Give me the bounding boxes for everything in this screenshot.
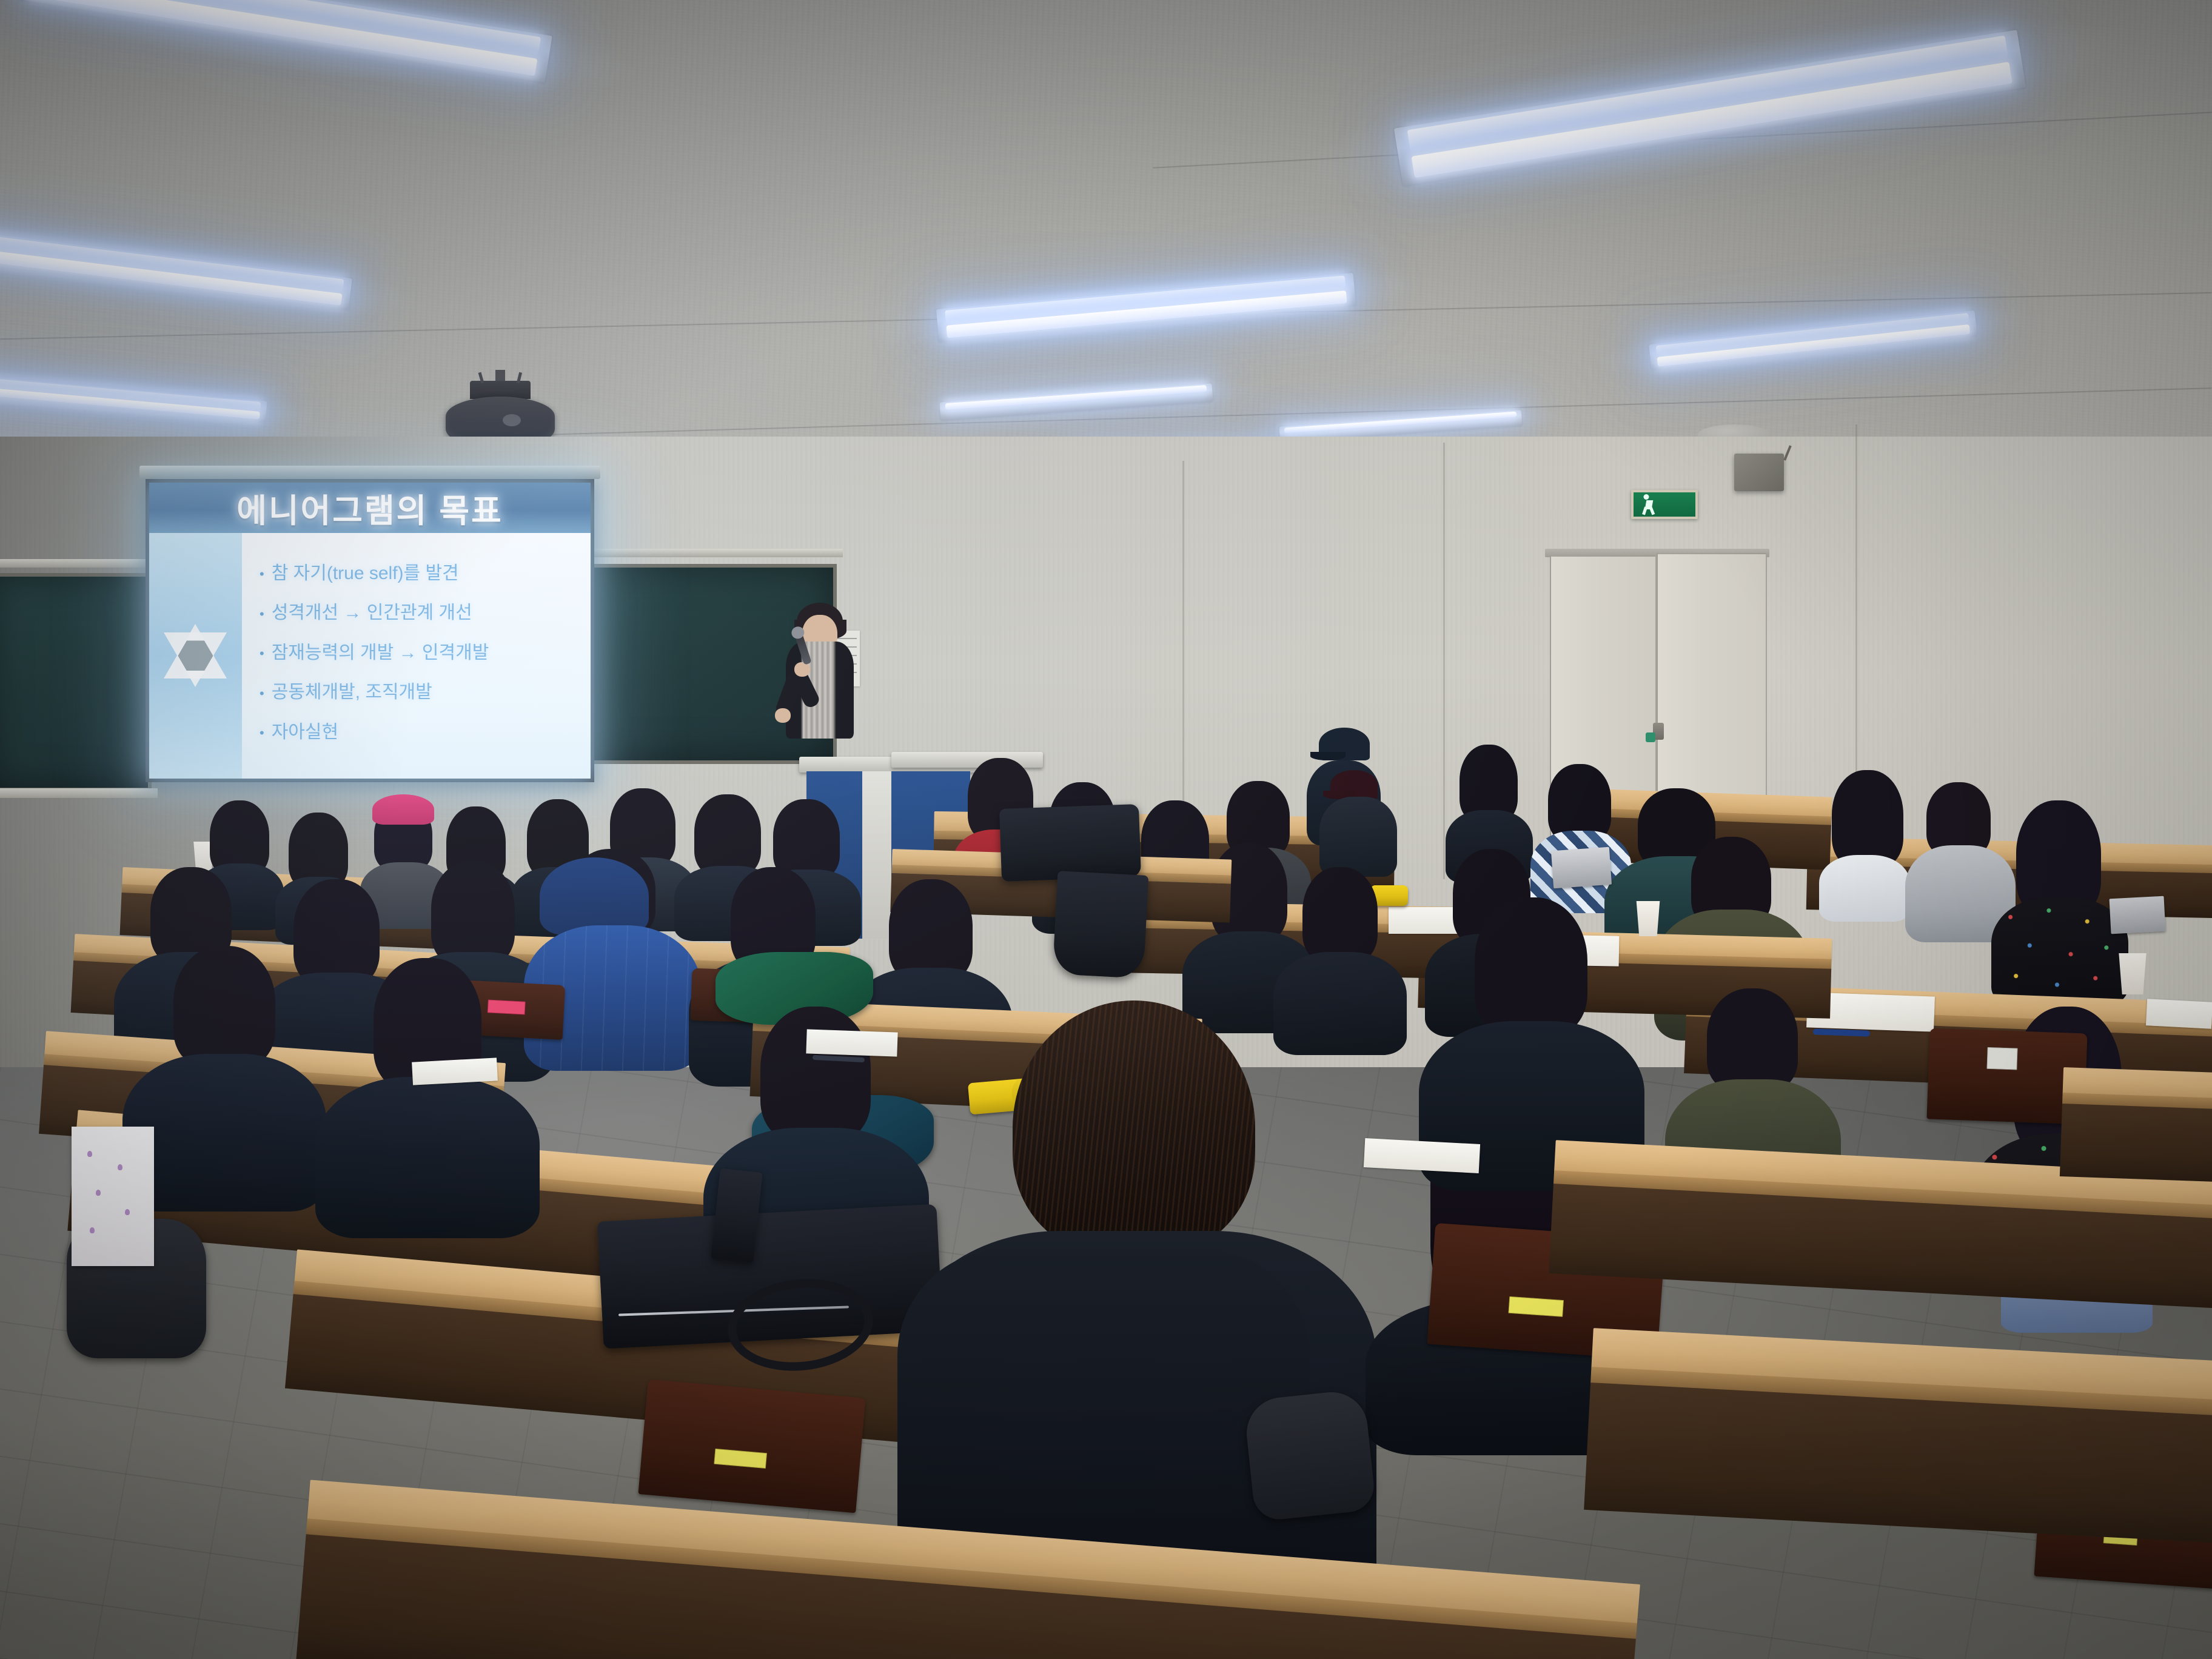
bag-pattern-dot [90, 1227, 95, 1233]
runner-leg [1642, 507, 1647, 515]
slide-body: 참 자기(true self)를 발견 성격개선 → 인간관계 개선 잠재능력의… [242, 533, 591, 779]
student-hair [1302, 867, 1378, 963]
student-front-right-b [1431, 897, 1631, 1182]
student-hair [1013, 1000, 1255, 1255]
student-torso [315, 1077, 540, 1238]
presenter-left-hand [775, 708, 791, 723]
slide-bullet: 공동체개발, 조직개발 [260, 683, 573, 702]
student-hair [1548, 764, 1611, 842]
presenter-right-hand [794, 662, 810, 677]
student-cap-dark [1322, 770, 1395, 873]
slide-title-bar: 에니어그램의 목표 [149, 483, 591, 533]
running-person-icon [1642, 494, 1658, 515]
bag-pattern-dot [125, 1209, 130, 1215]
wall-panel-seam [1443, 443, 1445, 879]
student-hair [889, 879, 973, 981]
student-hair [1832, 770, 1903, 867]
student-hair [1475, 897, 1587, 1036]
chair-backrest [638, 1379, 865, 1513]
bag-pattern-dot [118, 1164, 122, 1170]
student-hair [1707, 988, 1798, 1091]
bag-on-floor-center [1243, 1389, 1376, 1522]
student-torso [1819, 855, 1910, 922]
runner-head [1644, 494, 1649, 500]
slide-bullet-list: 참 자기(true self)를 발견 성격개선 → 인간관계 개선 잠재능력의… [260, 564, 573, 742]
exit-sign-panel [1634, 492, 1695, 517]
runner-leg [1649, 507, 1655, 515]
chalk-rail-upper [0, 559, 158, 568]
student-hair [760, 1007, 871, 1141]
projector-lens [503, 414, 521, 426]
door-lock-indicator [1646, 732, 1655, 742]
bag-pattern-dot [96, 1190, 101, 1196]
slide-title: 에니어그램의 목표 [236, 484, 503, 532]
student-front-left-b [327, 958, 528, 1225]
student-polka-dot [1995, 800, 2122, 982]
slide-bullet: 잠재능력의 개발 → 인격개발 [260, 643, 573, 663]
blackboard-left [0, 573, 152, 791]
slide-bullet: 성격개선 → 인간관계 개선 [260, 603, 573, 623]
student-torso [1991, 897, 2128, 1007]
chalk-rail [0, 788, 158, 798]
laptop-screen[interactable] [2110, 896, 2166, 934]
bag-pattern-dot [87, 1151, 92, 1157]
slide-bullet: 자아실현 [260, 723, 573, 742]
chair-asset-tag [1986, 1047, 2017, 1070]
desk-front [2060, 1104, 2212, 1182]
chair-foreground-left[interactable] [638, 1379, 865, 1513]
desk-row-bottom-right [1584, 1328, 2212, 1544]
notebook-paper [412, 1057, 498, 1085]
bag-hanging [1053, 871, 1149, 979]
notebook-paper [806, 1029, 897, 1056]
enneagram-star-icon [164, 624, 227, 687]
screen-roller [139, 466, 600, 479]
student-hair [694, 794, 761, 876]
classroom-scene: 에니어그램의 목표 참 자기(true self)를 발견 성격개선 → 인간관… [0, 0, 2212, 1659]
student-hair [173, 946, 275, 1067]
student-white-jacket [1819, 770, 1916, 916]
slide-bullet: 참 자기(true self)를 발견 [260, 564, 573, 583]
puffer-hood [540, 857, 649, 935]
shopping-bag [72, 1127, 154, 1266]
laptop-screen[interactable] [1551, 847, 1612, 889]
presenter [765, 606, 874, 770]
wall-speaker [1734, 454, 1784, 491]
pink-hood [372, 794, 434, 825]
student-torso [1319, 797, 1397, 877]
desk-right-edge [2060, 1067, 2212, 1182]
student-front-left-a [133, 946, 315, 1201]
student-hair [431, 861, 515, 965]
enneagram-graphic [149, 533, 242, 779]
notebook-paper [1364, 1138, 1480, 1173]
exit-sign [1631, 490, 1698, 519]
cap-brim [1310, 752, 1346, 760]
presentation-slide: 에니어그램의 목표 참 자기(true self)를 발견 성격개선 → 인간관… [149, 483, 591, 779]
bag-on-desk-back [999, 804, 1141, 882]
chalk-rail-upper [582, 549, 843, 557]
projection-screen: 에니어그램의 목표 참 자기(true self)를 발견 성격개선 → 인간관… [146, 479, 594, 782]
student-grey-hoodie [1910, 782, 2007, 934]
